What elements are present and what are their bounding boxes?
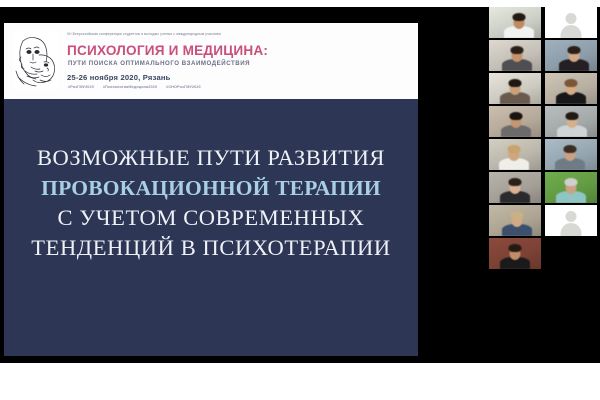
participant-tile[interactable] [545, 106, 597, 137]
portrait-line-art-logo [13, 31, 59, 89]
participant-tile[interactable] [489, 139, 541, 170]
slide-body: ВОЗМОЖНЫЕ ПУТИ РАЗВИТИЯПРОВОКАЦИОННОЙ ТЕ… [4, 99, 418, 356]
participant-tile[interactable] [489, 205, 541, 236]
participant-silhouette [509, 79, 522, 87]
participant-grid [489, 7, 600, 363]
participant-silhouette [509, 178, 522, 186]
participant-tile[interactable] [489, 172, 541, 203]
banner-subtitle: ПУТИ ПОИСКА ОПТИМАЛЬНОГО ВЗАИМОДЕЙСТВИЯ [68, 60, 250, 67]
participant-silhouette [509, 244, 522, 252]
banner-hashtag: #СНОРязГМУ2020 [166, 85, 201, 89]
participant-silhouette [511, 211, 524, 219]
participant-tile[interactable] [489, 238, 541, 269]
avatar-placeholder-icon [566, 211, 577, 222]
participant-tile[interactable] [545, 7, 597, 38]
participant-tile[interactable] [545, 40, 597, 71]
participant-tile[interactable] [489, 40, 541, 71]
shared-slide[interactable]: VII Всероссийская конференция студентов … [4, 23, 418, 356]
participant-tile[interactable] [489, 106, 541, 137]
participant-tile[interactable] [545, 172, 597, 203]
slide-title-line: С УЧЕТОМ СОВРЕМЕННЫХ [4, 203, 418, 233]
participant-silhouette [511, 46, 524, 54]
participant-silhouette [568, 46, 581, 54]
participant-tile[interactable] [489, 73, 541, 104]
participant-silhouette [566, 112, 579, 120]
banner-hashtag: #ПсихологияМедицина2020 [103, 85, 157, 89]
banner-title: ПСИХОЛОГИЯ И МЕДИЦИНА: [67, 44, 268, 58]
slide-title-line: ВОЗМОЖНЫЕ ПУТИ РАЗВИТИЯ [4, 143, 418, 173]
banner-hashtags: #РязГМУ2020#ПсихологияМедицина2020#СНОРя… [68, 85, 210, 90]
participant-tile[interactable] [545, 205, 597, 236]
participant-silhouette [565, 79, 578, 87]
slide-title-line: ПРОВОКАЦИОННОЙ ТЕРАПИИ [4, 173, 418, 203]
conference-banner: VII Всероссийская конференция студентов … [4, 23, 418, 99]
banner-date-location: 25-26 ноября 2020, Рязань [67, 73, 171, 82]
participant-tile[interactable] [545, 139, 597, 170]
banner-pretitle: VII Всероссийская конференция студентов … [67, 32, 367, 37]
banner-hashtag: #РязГМУ2020 [68, 85, 94, 89]
participant-tile[interactable] [489, 7, 541, 38]
participant-silhouette [508, 145, 521, 153]
participant-tile[interactable] [545, 73, 597, 104]
participant-silhouette [565, 178, 578, 186]
participant-silhouette [510, 112, 523, 120]
slide-title-line: ТЕНДЕНЦИЙ В ПСИХОТЕРАПИИ [4, 233, 418, 263]
slide-title-block: ВОЗМОЖНЫЕ ПУТИ РАЗВИТИЯПРОВОКАЦИОННОЙ ТЕ… [4, 143, 418, 263]
avatar-placeholder-icon [566, 13, 577, 24]
participant-column-left [489, 7, 541, 271]
participant-silhouette [513, 13, 526, 21]
screenshot-root: VII Всероссийская конференция студентов … [0, 0, 600, 400]
participant-column-right [545, 7, 597, 238]
participant-silhouette [564, 145, 577, 153]
